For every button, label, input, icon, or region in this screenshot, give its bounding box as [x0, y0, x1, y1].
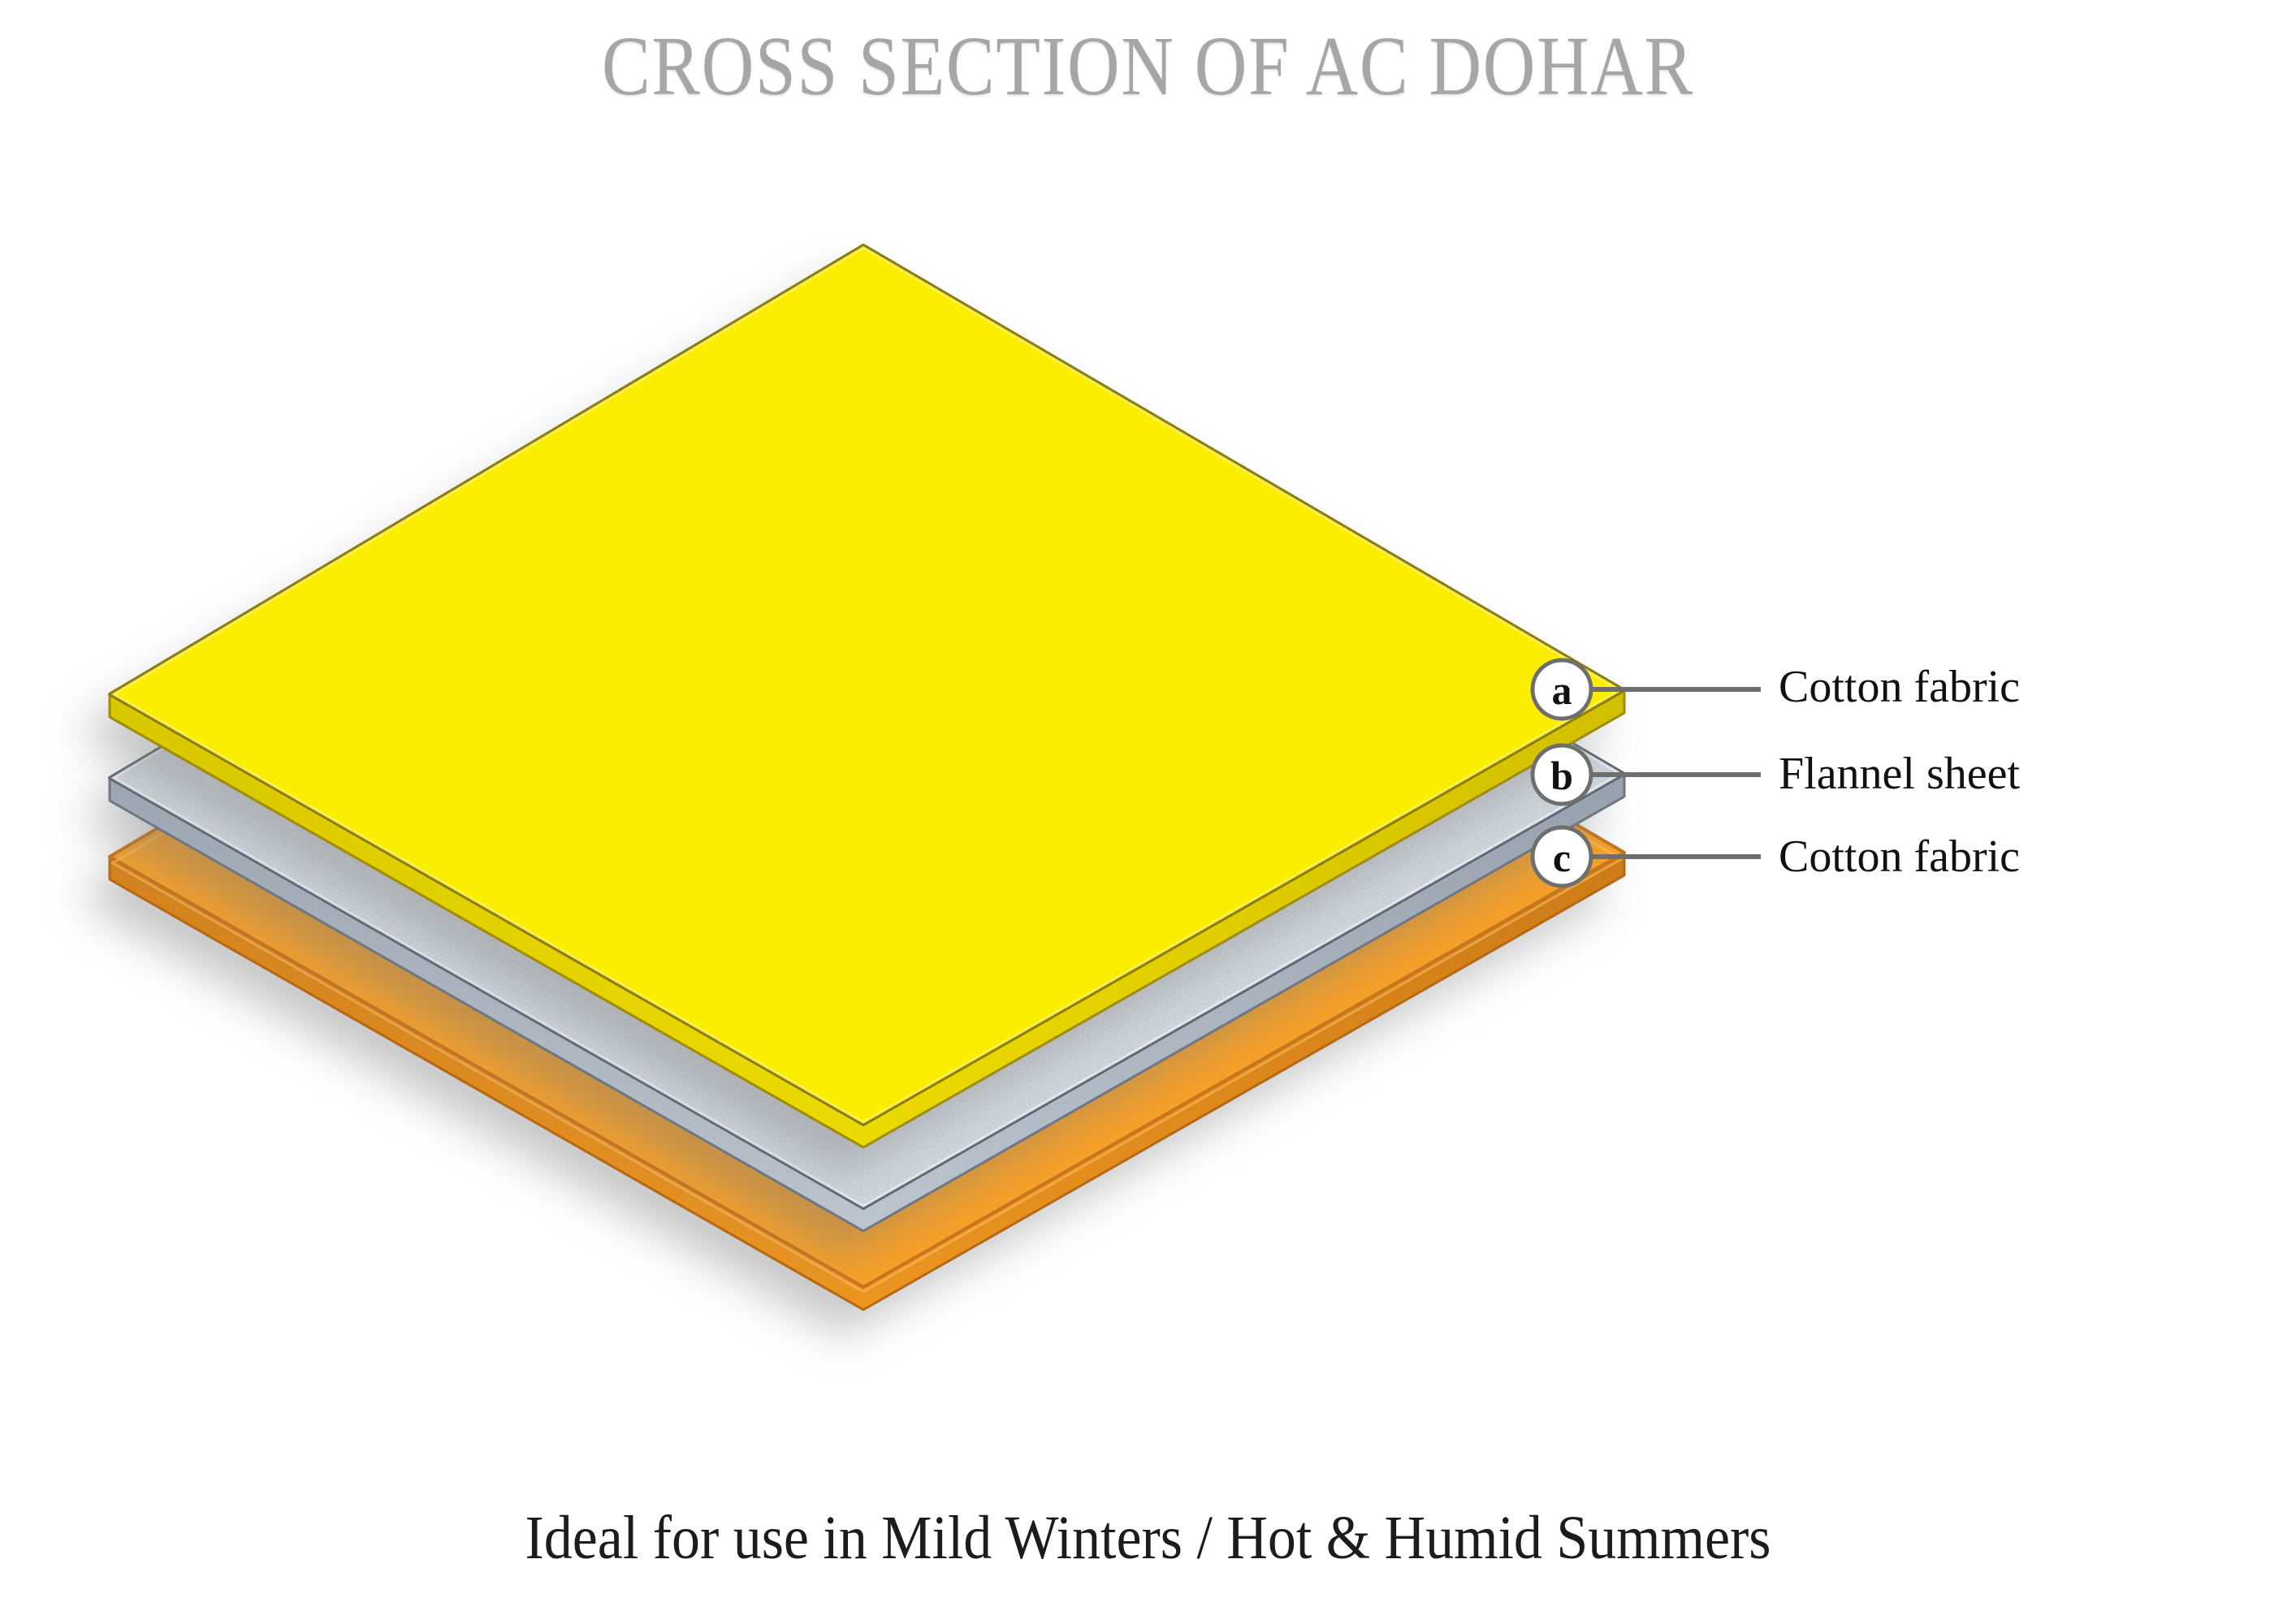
callout-label-flannel-sheet: Flannel sheet — [1779, 751, 2020, 797]
marker-letter-a: a — [1552, 667, 1572, 713]
marker-badge-b[interactable]: b — [1533, 745, 1591, 804]
marker-letter-c: c — [1553, 835, 1571, 880]
marker-letter-b: b — [1550, 753, 1573, 798]
diagram-canvas: CROSS SECTION OF AC DOHAR — [0, 0, 2296, 1624]
callout-label-cotton-fabric-bottom: Cotton fabric — [1779, 834, 2020, 879]
cross-section-illustration: a b c — [0, 0, 2296, 1624]
callout-label-cotton-fabric-top: Cotton fabric — [1779, 664, 2020, 710]
layer-sheet-a — [110, 245, 1624, 1147]
marker-badge-c[interactable]: c — [1533, 827, 1591, 886]
marker-badge-a[interactable]: a — [1533, 660, 1591, 719]
page-caption: Ideal for use in Mild Winters / Hot & Hu… — [92, 1501, 2204, 1575]
